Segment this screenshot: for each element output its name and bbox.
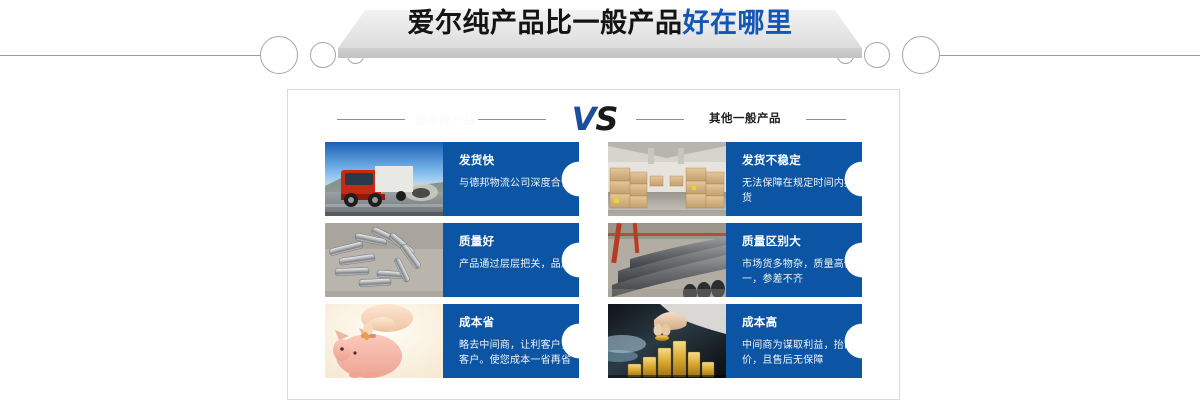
card-body: 质量好 产品通过层层把关，品质监控: [443, 223, 579, 297]
card-high-cost[interactable]: 成本高 中间商为谋取利益，抬高物 价，且售后无保障: [608, 304, 862, 378]
card-description-line: 与德邦物流公司深度合作: [459, 176, 557, 191]
right-label-rule-a: [636, 119, 684, 120]
card-title: 发货快: [459, 153, 557, 167]
card-description-line: 客户。使您成本一省再省: [459, 353, 557, 368]
comparison-grid: 发货快 与德邦物流公司深度合作: [325, 142, 865, 390]
steel-filter-cartridges-photo: [325, 223, 443, 297]
decor-circle-left-1: [260, 36, 298, 74]
card-description-line: 中间商为谋取利益，抬高物: [742, 338, 840, 353]
card-title: 成本省: [459, 315, 557, 329]
vs-letter-s: S: [595, 100, 617, 138]
decor-circle-right-2: [864, 42, 890, 68]
card-fast-delivery[interactable]: 发货快 与德邦物流公司深度合作: [325, 142, 579, 216]
grey-steel-pipes-stack-photo: [608, 223, 726, 297]
card-description-line: 无法保障在规定时间内按时收: [742, 176, 840, 191]
card-description-line: 一，参差不齐: [742, 272, 840, 287]
card-body: 成本高 中间商为谋取利益，抬高物 价，且售后无保障: [726, 304, 862, 378]
page-title-main: 爱尔纯产品比一般产品: [408, 8, 683, 39]
red-truck-on-highway-photo: [325, 142, 443, 216]
card-title: 成本高: [742, 315, 840, 329]
page-title-accent: 好在哪里: [683, 8, 793, 39]
hand-dropping-coin-into-piggy-bank-photo: [325, 304, 443, 378]
card-description: 略去中间商，让利客户，成就 客户。使您成本一省再省: [459, 338, 557, 368]
card-description-line: 略去中间商，让利客户，成就: [459, 338, 557, 353]
decor-circle-right-3: [902, 36, 940, 74]
right-label-rule-b: [806, 119, 846, 120]
card-low-cost[interactable]: 成本省 略去中间商，让利客户，成就 客户。使您成本一省再省: [325, 304, 579, 378]
vs-header-row: 爱尔纯产品 VS 其他一般产品: [288, 99, 901, 145]
right-column-label: 其他一般产品: [690, 110, 800, 126]
banner-header: 爱尔纯产品比一般产品好在哪里: [0, 0, 1200, 80]
hand-stacking-gold-coins-photo: [608, 304, 726, 378]
card-title: 质量区别大: [742, 234, 840, 248]
card-quality-varies[interactable]: 质量区别大 市场货多物杂，质量高低不 一，参差不齐: [608, 223, 862, 297]
card-good-quality[interactable]: 质量好 产品通过层层把关，品质监控: [325, 223, 579, 297]
header-rule-right: [938, 55, 1200, 56]
header-rule-left: [0, 55, 262, 56]
card-body: 发货不稳定 无法保障在规定时间内按时收 货: [726, 142, 862, 216]
card-description: 市场货多物杂，质量高低不 一，参差不齐: [742, 257, 840, 287]
title-plinth-edge: [338, 48, 862, 58]
card-unstable-delivery[interactable]: 发货不稳定 无法保障在规定时间内按时收 货: [608, 142, 862, 216]
card-body: 质量区别大 市场货多物杂，质量高低不 一，参差不齐: [726, 223, 862, 297]
card-description: 无法保障在规定时间内按时收 货: [742, 176, 840, 206]
vs-letter-v: V: [572, 100, 596, 138]
warehouse-stacked-cartons-photo: [608, 142, 726, 216]
column-other-products: 发货不稳定 无法保障在规定时间内按时收 货: [608, 142, 862, 390]
page-title: 爱尔纯产品比一般产品好在哪里: [0, 8, 1200, 39]
card-description: 中间商为谋取利益，抬高物 价，且售后无保障: [742, 338, 840, 368]
comparison-banner: 爱尔纯产品比一般产品好在哪里 爱尔纯产品 VS 其他一般产品: [0, 0, 1200, 400]
column-our-products: 发货快 与德邦物流公司深度合作: [325, 142, 579, 390]
card-description-line: 货: [742, 191, 840, 206]
card-description: 与德邦物流公司深度合作: [459, 176, 557, 191]
card-description: 产品通过层层把关，品质监控: [459, 257, 557, 272]
decor-circle-left-2: [310, 42, 336, 68]
card-body: 成本省 略去中间商，让利客户，成就 客户。使您成本一省再省: [443, 304, 579, 378]
card-body: 发货快 与德邦物流公司深度合作: [443, 142, 579, 216]
card-description-line: 市场货多物杂，质量高低不: [742, 257, 840, 272]
card-description-line: 价，且售后无保障: [742, 353, 840, 368]
right-column-label-group: 其他一般产品: [628, 110, 878, 130]
card-description-line: 产品通过层层把关，品质监控: [459, 257, 557, 272]
comparison-panel: 爱尔纯产品 VS 其他一般产品: [287, 89, 900, 400]
card-title: 质量好: [459, 234, 557, 248]
card-title: 发货不稳定: [742, 153, 840, 167]
